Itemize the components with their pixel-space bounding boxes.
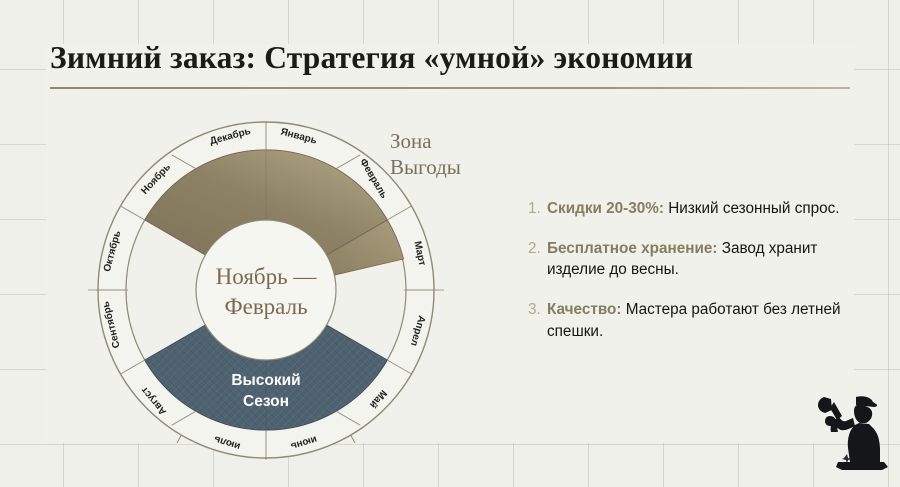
title-block: Зимний заказ: Стратегия «умной» экономии: [50, 40, 850, 89]
zone-callout-line1: Зона: [390, 128, 461, 154]
slide-root: Зимний заказ: Стратегия «умной» экономии: [0, 0, 900, 487]
center-label-line1: Ноябрь —: [216, 264, 318, 289]
benefit-body: Скидки 20-30%: Низкий сезонный спрос.: [547, 198, 874, 220]
benefit-text: Низкий сезонный спрос.: [668, 200, 839, 217]
benefit-number: 2.: [528, 238, 547, 260]
benefit-term: Бесплатное хранение:: [547, 240, 717, 257]
benefit-body: Бесплатное хранение: Завод хранит издели…: [547, 238, 874, 281]
benefits-list: 1. Скидки 20-30%: Низкий сезонный спрос.…: [528, 198, 874, 343]
benefit-body: Качество: Мастера работают без летней сп…: [547, 299, 874, 342]
benefit-item: 2. Бесплатное хранение: Завод хранит изд…: [528, 238, 874, 281]
benefit-item: 1. Скидки 20-30%: Низкий сезонный спрос.: [528, 198, 874, 220]
benefit-number: 3.: [528, 299, 547, 321]
benefit-item: 3. Качество: Мастера работают без летней…: [528, 299, 874, 342]
benefit-number: 1.: [528, 198, 547, 220]
zone-callout-line2: Выгоды: [390, 154, 461, 180]
chart-center-hole: [196, 220, 336, 360]
title-divider: [50, 87, 850, 89]
high-season-label-line1: Высокий: [231, 372, 300, 389]
high-season-label-line2: Сезон: [243, 393, 289, 410]
blacksmith-icon: [812, 388, 892, 470]
benefit-term: Скидки 20-30%:: [547, 200, 664, 217]
benefit-term: Качество:: [547, 301, 621, 318]
page-title: Зимний заказ: Стратегия «умной» экономии: [50, 40, 850, 76]
center-label-line2: Февраль: [224, 294, 307, 319]
zone-callout: Зона Выгоды: [390, 128, 461, 181]
